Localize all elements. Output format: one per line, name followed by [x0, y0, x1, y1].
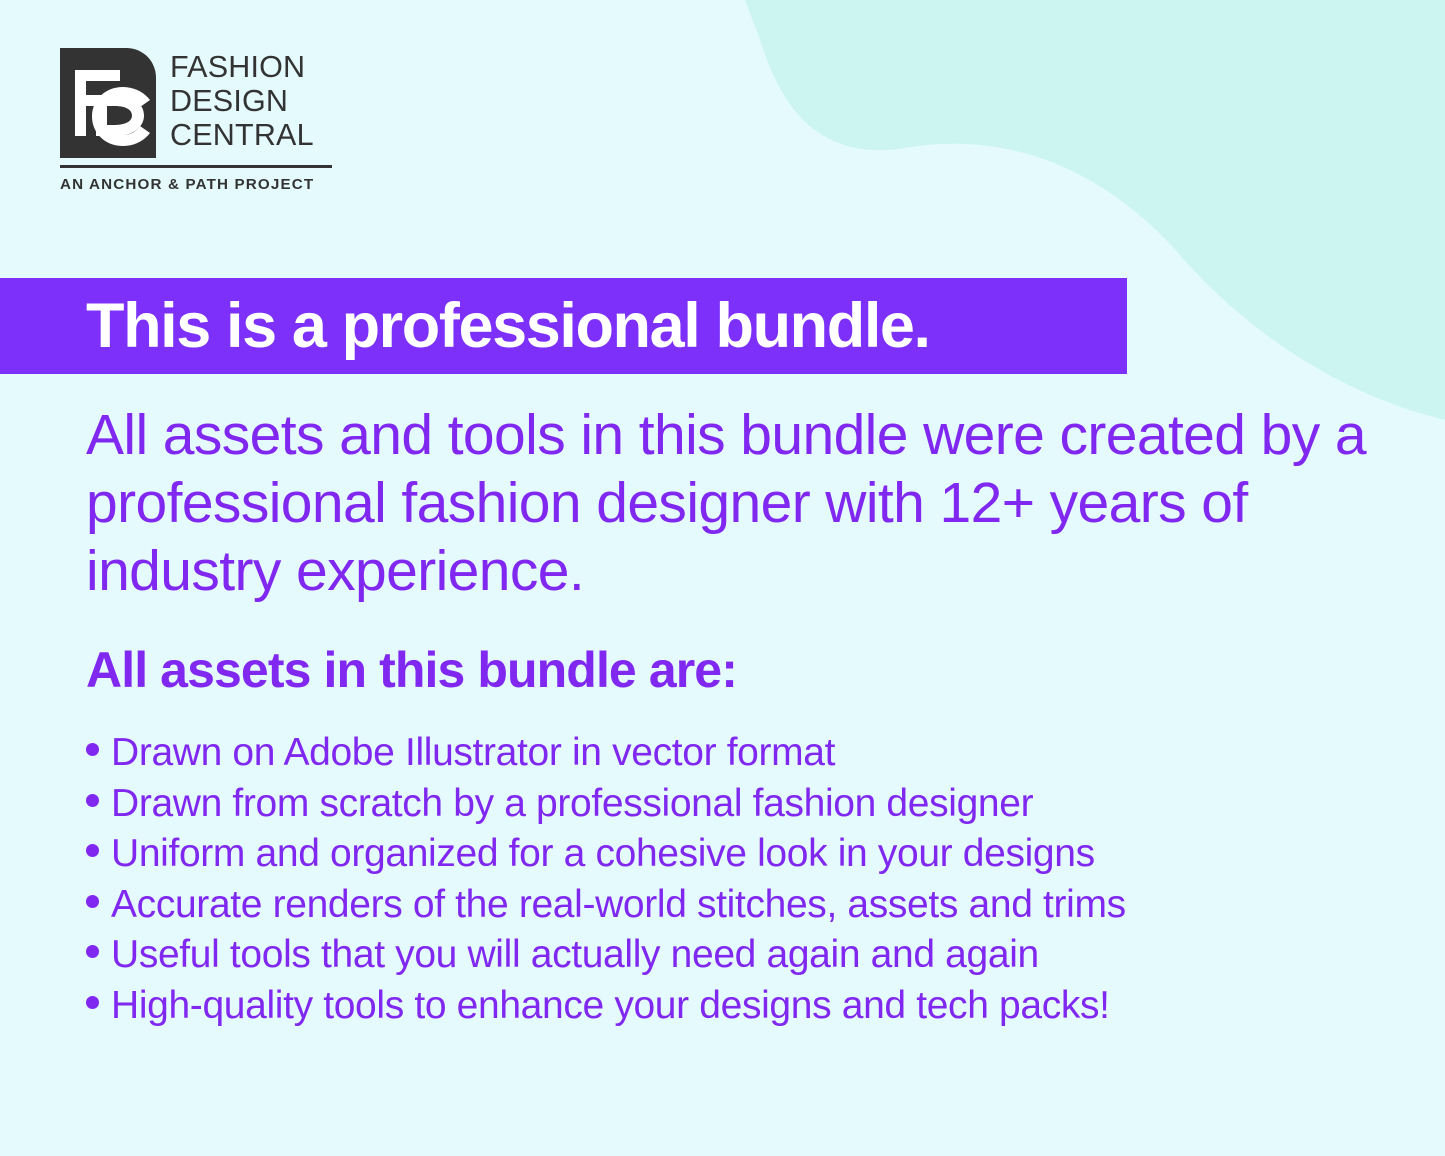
bullet-dot-icon: [86, 996, 99, 1009]
bullet-label: High-quality tools to enhance your desig…: [111, 981, 1110, 1032]
bullet-label: Drawn on Adobe Illustrator in vector for…: [111, 728, 835, 779]
logo-word-line-2: DESIGN: [170, 84, 314, 118]
logo-top-row: FASHION DESIGN CENTRAL: [60, 48, 332, 158]
promo-poster: FASHION DESIGN CENTRAL AN ANCHOR & PATH …: [0, 0, 1445, 1156]
bullet-dot-icon: [86, 794, 99, 807]
list-item: Useful tools that you will actually need…: [86, 930, 1406, 981]
bullet-dot-icon: [86, 895, 99, 908]
section-sub-heading: All assets in this bundle are:: [86, 645, 737, 695]
bullet-label: Useful tools that you will actually need…: [111, 930, 1039, 981]
bullet-label: Accurate renders of the real-world stitc…: [111, 880, 1126, 931]
headline-banner: This is a professional bundle.: [0, 278, 1127, 374]
bullet-label: Drawn from scratch by a professional fas…: [111, 779, 1033, 830]
brand-logo-lockup: FASHION DESIGN CENTRAL AN ANCHOR & PATH …: [60, 48, 332, 193]
logo-divider-rule: [60, 165, 332, 168]
bullet-dot-icon: [86, 844, 99, 857]
bullet-dot-icon: [86, 743, 99, 756]
fdc-monogram-icon: [60, 48, 156, 158]
list-item: Drawn on Adobe Illustrator in vector for…: [86, 728, 1406, 779]
bullet-label: Uniform and organized for a cohesive loo…: [111, 829, 1095, 880]
lead-paragraph: All assets and tools in this bundle were…: [86, 401, 1386, 605]
headline-title: This is a professional bundle.: [86, 295, 930, 358]
list-item: Accurate renders of the real-world stitc…: [86, 880, 1406, 931]
logo-wordmark: FASHION DESIGN CENTRAL: [170, 48, 314, 152]
feature-bullet-list: Drawn on Adobe Illustrator in vector for…: [86, 728, 1406, 1031]
list-item: Drawn from scratch by a professional fas…: [86, 779, 1406, 830]
logo-word-line-3: CENTRAL: [170, 118, 314, 152]
list-item: Uniform and organized for a cohesive loo…: [86, 829, 1406, 880]
logo-tagline: AN ANCHOR & PATH PROJECT: [60, 176, 332, 193]
list-item: High-quality tools to enhance your desig…: [86, 981, 1406, 1032]
logo-word-line-1: FASHION: [170, 50, 314, 84]
bullet-dot-icon: [86, 945, 99, 958]
